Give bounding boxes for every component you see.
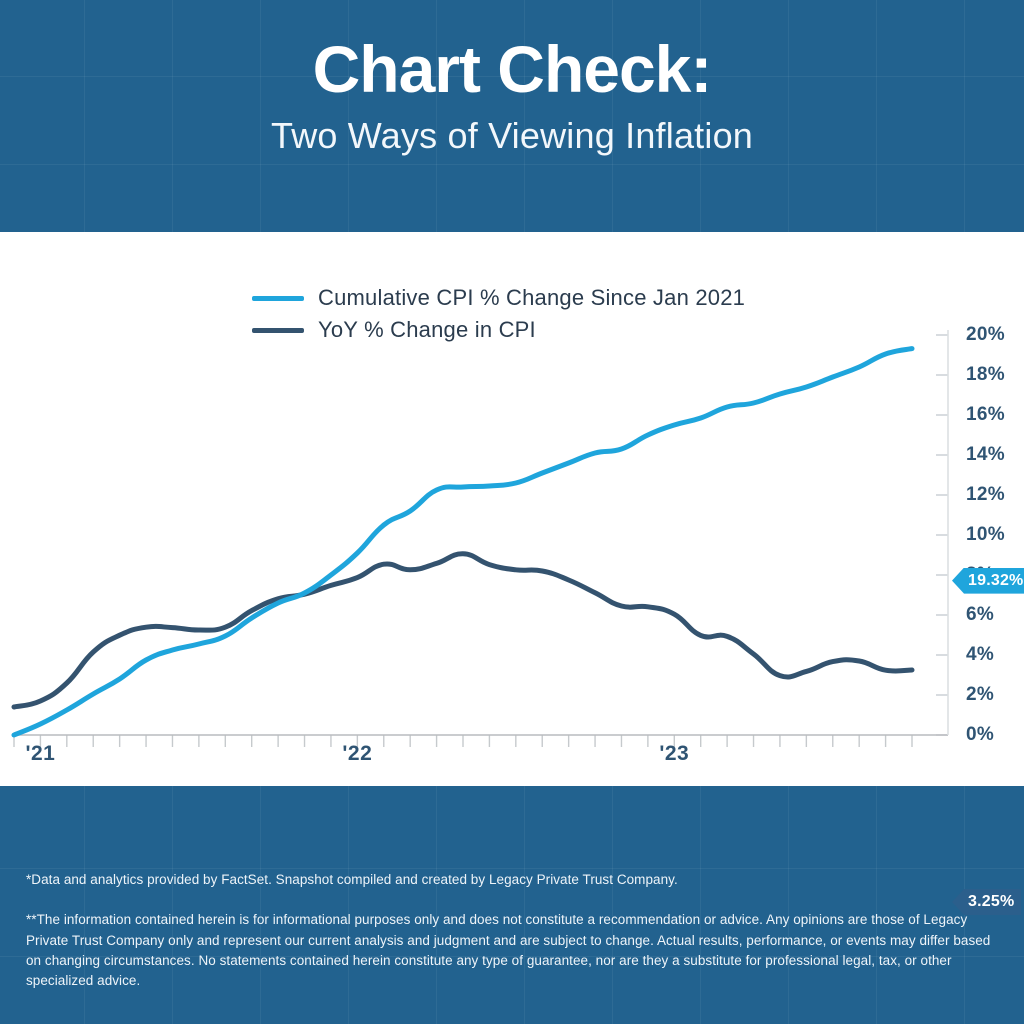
y-axis-label: 20% <box>966 324 1005 346</box>
y-axis-label: 4% <box>966 644 994 666</box>
callout-badge-cumulative: 19.32% <box>952 568 1024 594</box>
footer-note-disclaimer: **The information contained herein is fo… <box>26 910 998 991</box>
y-axis-label: 16% <box>966 404 1005 426</box>
y-axis-ticks <box>936 335 948 735</box>
footer: *Data and analytics provided by FactSet.… <box>0 786 1024 1024</box>
legend-item-yoy: YoY % Change in CPI <box>252 316 745 344</box>
x-axis-ticks <box>14 735 912 747</box>
page-subtitle: Two Ways of Viewing Inflation <box>271 115 753 157</box>
legend-label-cumulative: Cumulative CPI % Change Since Jan 2021 <box>318 285 745 311</box>
x-axis-label: '23 <box>659 742 689 766</box>
x-axis-label: '21 <box>25 742 55 766</box>
series-line-yoy <box>14 554 912 707</box>
footer-note-source: *Data and analytics provided by FactSet.… <box>26 870 998 890</box>
page-title: Chart Check: <box>313 34 712 105</box>
x-axis-label: '22 <box>342 742 372 766</box>
legend-swatch-yoy <box>252 328 304 333</box>
y-axis-label: 10% <box>966 524 1005 546</box>
header: Chart Check: Two Ways of Viewing Inflati… <box>0 0 1024 232</box>
y-axis-label: 14% <box>966 444 1005 466</box>
chart-area: Cumulative CPI % Change Since Jan 2021 Y… <box>0 232 1024 786</box>
chart-panel: Cumulative CPI % Change Since Jan 2021 Y… <box>0 232 1024 786</box>
y-axis-label: 6% <box>966 604 994 626</box>
y-axis-label: 12% <box>966 484 1005 506</box>
y-axis-label: 2% <box>966 684 994 706</box>
y-axis-label: 18% <box>966 364 1005 386</box>
legend-label-yoy: YoY % Change in CPI <box>318 317 536 343</box>
legend-swatch-cumulative <box>252 296 304 301</box>
y-axis-label: 0% <box>966 724 994 746</box>
legend-item-cumulative: Cumulative CPI % Change Since Jan 2021 <box>252 284 745 312</box>
chart-legend: Cumulative CPI % Change Since Jan 2021 Y… <box>252 284 745 344</box>
